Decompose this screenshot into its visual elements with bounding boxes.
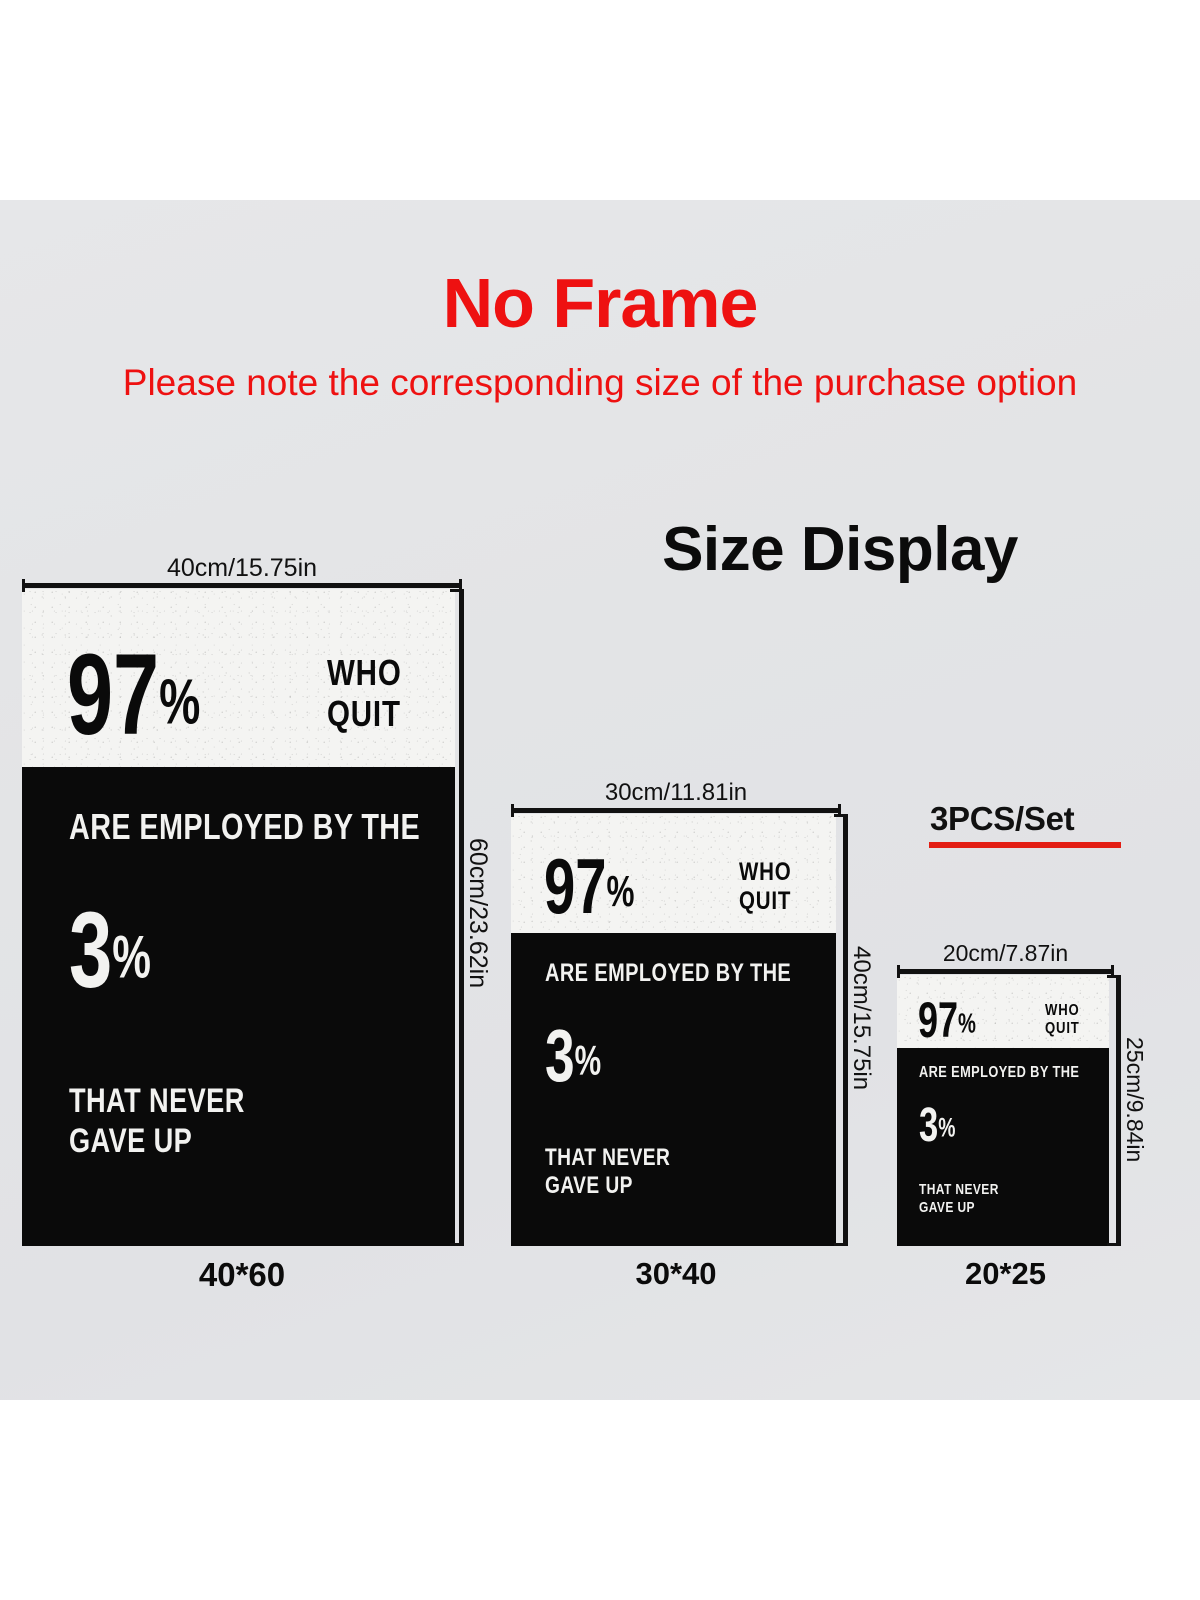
poster-stat-97-small: 97% [918, 1000, 976, 1040]
poster-stat-97-medium: 97% [544, 855, 634, 917]
poster-never-gave-up-medium: THAT NEVER GAVE UP [545, 1144, 670, 1201]
dimension-label-width-large: 40cm/15.75in [22, 556, 462, 581]
dimension-rule-width-small [897, 969, 1114, 974]
poster-who-quit-medium: WHO QUIT [739, 858, 792, 916]
size-caption-large: 40*60 [22, 1258, 462, 1291]
pcs-set-badge: 3PCS/Set [930, 802, 1074, 835]
poster-employed-line-medium: ARE EMPLOYED BY THE [545, 959, 791, 989]
dimension-label-width-medium: 30cm/11.81in [511, 781, 841, 805]
poster-preview-large: 97% WHO QUIT ARE EMPLOYED BY THE 3% THAT… [22, 589, 455, 1246]
dimension-rule-width-medium [511, 808, 841, 813]
dimension-label-height-large: 60cm/23.62in [465, 838, 490, 988]
poster-preview-medium: 97% WHO QUIT ARE EMPLOYED BY THE 3% THAT… [511, 814, 836, 1246]
page-title-no-frame: No Frame [0, 268, 1200, 338]
poster-employed-line-small: ARE EMPLOYED BY THE [919, 1064, 1079, 1083]
poster-who-quit-small: WHO QUIT [1045, 1002, 1080, 1039]
poster-employed-line-large: ARE EMPLOYED BY THE [69, 806, 420, 848]
dimension-rule-width-large [22, 583, 462, 588]
poster-preview-small: 97% WHO QUIT ARE EMPLOYED BY THE 3% THAT… [897, 975, 1109, 1246]
poster-never-gave-up-large: THAT NEVER GAVE UP [69, 1081, 245, 1161]
dimension-label-height-small: 25cm/9.84in [1123, 1037, 1146, 1162]
dimension-label-width-small: 20cm/7.87in [897, 942, 1114, 965]
purchase-note-text: Please note the corresponding size of th… [0, 363, 1200, 404]
pcs-set-underline [929, 842, 1121, 848]
product-size-chart-image: No Frame Please note the corresponding s… [0, 0, 1200, 1600]
poster-stat-3-large: 3% [69, 907, 151, 993]
dimension-rule-height-small [1116, 975, 1121, 1246]
poster-stat-97-large: 97% [67, 649, 200, 741]
poster-stat-3-medium: 3% [545, 1026, 601, 1085]
size-display-heading: Size Display [560, 519, 1120, 581]
size-caption-medium: 30*40 [511, 1258, 841, 1289]
poster-stat-3-small: 3% [919, 1107, 955, 1145]
dimension-label-height-medium: 40cm/15.75in [849, 946, 873, 1090]
poster-never-gave-up-small: THAT NEVER GAVE UP [919, 1181, 999, 1216]
poster-who-quit-large: WHO QUIT [327, 652, 402, 735]
size-caption-small: 20*25 [897, 1258, 1114, 1289]
